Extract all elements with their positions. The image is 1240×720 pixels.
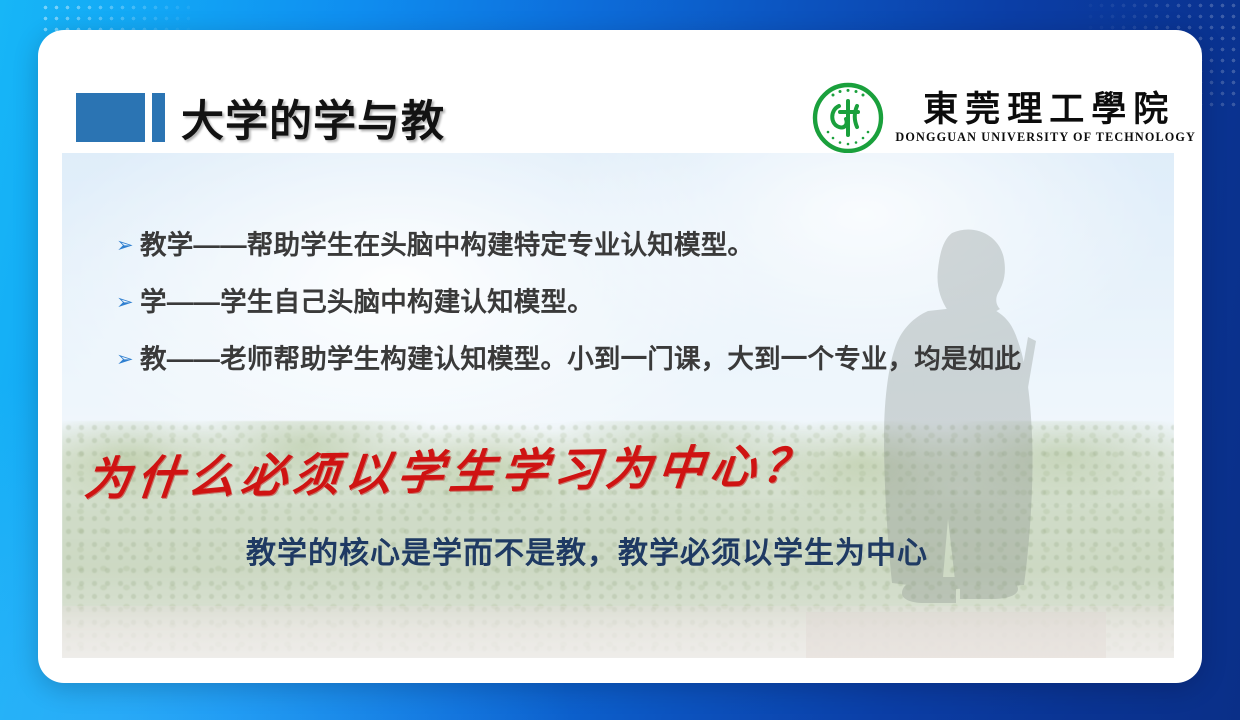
university-name-cn: 東莞理工學院 — [916, 91, 1175, 128]
content-panel: ➢ 教学——帮助学生在头脑中构建特定专业认知模型。 ➢ 学——学生自己头脑中构建… — [62, 153, 1174, 658]
list-item-label: 学——学生自己头脑中构建认知模型。 — [140, 286, 594, 320]
university-logo: 東莞理工學院 DONGGUAN UNIVERSITY OF TECHNOLOGY — [812, 82, 1196, 154]
list-item-label: 教学——帮助学生在头脑中构建特定专业认知模型。 — [140, 229, 754, 263]
conclusion-statement: 教学的核心是学而不是教，教学必须以学生为中心 — [62, 528, 1174, 572]
highlight-question: 为什么必须以学生学习为中心？ — [82, 429, 818, 509]
university-seal-icon — [812, 82, 884, 154]
chevron-right-icon: ➢ — [116, 235, 140, 256]
list-item-label: 教——老师帮助学生构建认知模型。小到一门课，大到一个专业，均是如此 — [140, 343, 1021, 377]
bullet-list: ➢ 教学——帮助学生在头脑中构建特定专业认知模型。 ➢ 学——学生自己头脑中构建… — [116, 229, 1134, 400]
title-accent-bar-narrow — [152, 93, 165, 142]
chevron-right-icon: ➢ — [116, 292, 140, 313]
title-accent-bar-wide — [76, 93, 145, 142]
university-name-en: DONGGUAN UNIVERSITY OF TECHNOLOGY — [895, 130, 1196, 145]
slide-card: 大学的学与教 — [38, 30, 1202, 683]
page-title: 大学的学与教 — [181, 87, 445, 149]
chevron-right-icon: ➢ — [116, 349, 140, 370]
slide-root: 大学的学与教 — [0, 0, 1240, 720]
university-name-block: 東莞理工學院 DONGGUAN UNIVERSITY OF TECHNOLOGY — [895, 91, 1196, 145]
slide-header: 大学的学与教 — [38, 30, 1202, 153]
list-item: ➢ 教——老师帮助学生构建认知模型。小到一门课，大到一个专业，均是如此 — [116, 343, 1134, 377]
list-item: ➢ 教学——帮助学生在头脑中构建特定专业认知模型。 — [116, 229, 1134, 263]
list-item: ➢ 学——学生自己头脑中构建认知模型。 — [116, 286, 1134, 320]
